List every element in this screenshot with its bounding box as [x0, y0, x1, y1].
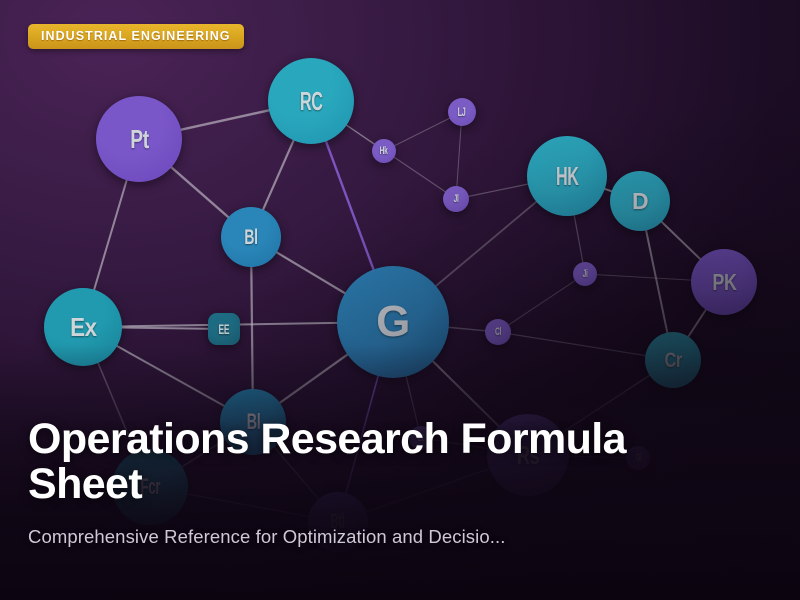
graph-node-bl1[interactable]: Bl	[221, 207, 281, 267]
graph-node-label: G	[376, 300, 410, 344]
graph-node-label: HK	[556, 163, 579, 189]
graph-node-label: Cr	[664, 350, 681, 371]
graph-node-s5[interactable]: Cl	[485, 319, 511, 345]
page-subtitle: Comprehensive Reference for Optimization…	[28, 526, 740, 548]
graph-node-ee[interactable]: EE	[208, 313, 240, 345]
graph-node-s3[interactable]: Jl	[443, 186, 469, 212]
graph-node-label: EE	[219, 322, 230, 336]
graph-node-label: Hk	[380, 146, 388, 157]
graph-node-label: LJ	[458, 106, 466, 118]
graph-node-s2[interactable]: Hk	[372, 139, 396, 163]
page-title: Operations Research Formula Sheet	[28, 417, 740, 508]
graph-node-label: Pt	[130, 126, 149, 152]
graph-node-label: Cl	[495, 327, 501, 338]
graph-node-s1[interactable]: LJ	[448, 98, 476, 126]
slide-canvas: PtRCHKDPKBlExEEGBlCrRsBtlFcrLJHkJlJiClLt…	[0, 0, 800, 600]
graph-edge	[498, 274, 585, 332]
graph-node-label: Ex	[70, 314, 96, 340]
knowledge-graph: PtRCHKDPKBlExEEGBlCrRsBtlFcrLJHkJlJiClLt…	[0, 0, 800, 600]
graph-node-label: Jl	[454, 194, 459, 205]
graph-node-label: RC	[300, 88, 323, 114]
graph-node-label: Ji	[583, 269, 588, 280]
graph-node-rc[interactable]: RC	[268, 58, 354, 144]
graph-node-cr[interactable]: Cr	[645, 332, 701, 388]
graph-node-pt[interactable]: Pt	[96, 96, 182, 182]
graph-node-label: D	[632, 190, 648, 213]
graph-node-g[interactable]: G	[337, 266, 449, 378]
category-badge: INDUSTRIAL ENGINEERING	[28, 24, 244, 49]
graph-node-s4[interactable]: Ji	[573, 262, 597, 286]
graph-node-hk[interactable]: HK	[527, 136, 607, 216]
graph-node-pk[interactable]: PK	[691, 249, 757, 315]
graph-node-label: PK	[712, 271, 736, 294]
graph-node-label: Bl	[244, 227, 257, 248]
graph-node-d[interactable]: D	[610, 171, 670, 231]
graph-node-ex[interactable]: Ex	[44, 288, 122, 366]
